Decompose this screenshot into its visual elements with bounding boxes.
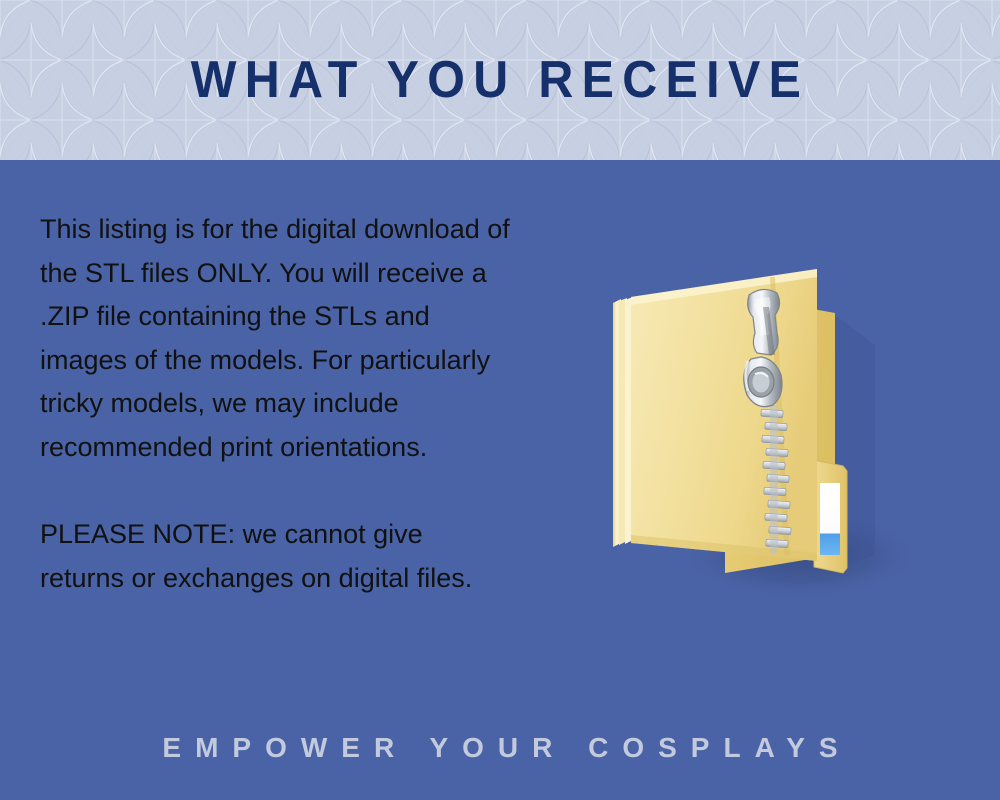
- description-paragraph: This listing is for the digital download…: [40, 208, 510, 469]
- body-text-block: This listing is for the digital download…: [40, 208, 510, 600]
- please-note-paragraph: PLEASE NOTE: we cannot give returns or e…: [40, 513, 510, 600]
- zip-folder-icon: [585, 255, 925, 600]
- page-title: WHAT YOU RECEIVE: [35, 0, 965, 160]
- poster-canvas: WHAT YOU RECEIVE This listing is for the…: [0, 0, 1000, 800]
- header-band: WHAT YOU RECEIVE: [0, 0, 1000, 160]
- folder-label: [820, 483, 840, 555]
- folder-front-cover: [631, 269, 817, 561]
- footer-tagline: EMPOWER YOUR COSPLAYS: [0, 732, 1000, 764]
